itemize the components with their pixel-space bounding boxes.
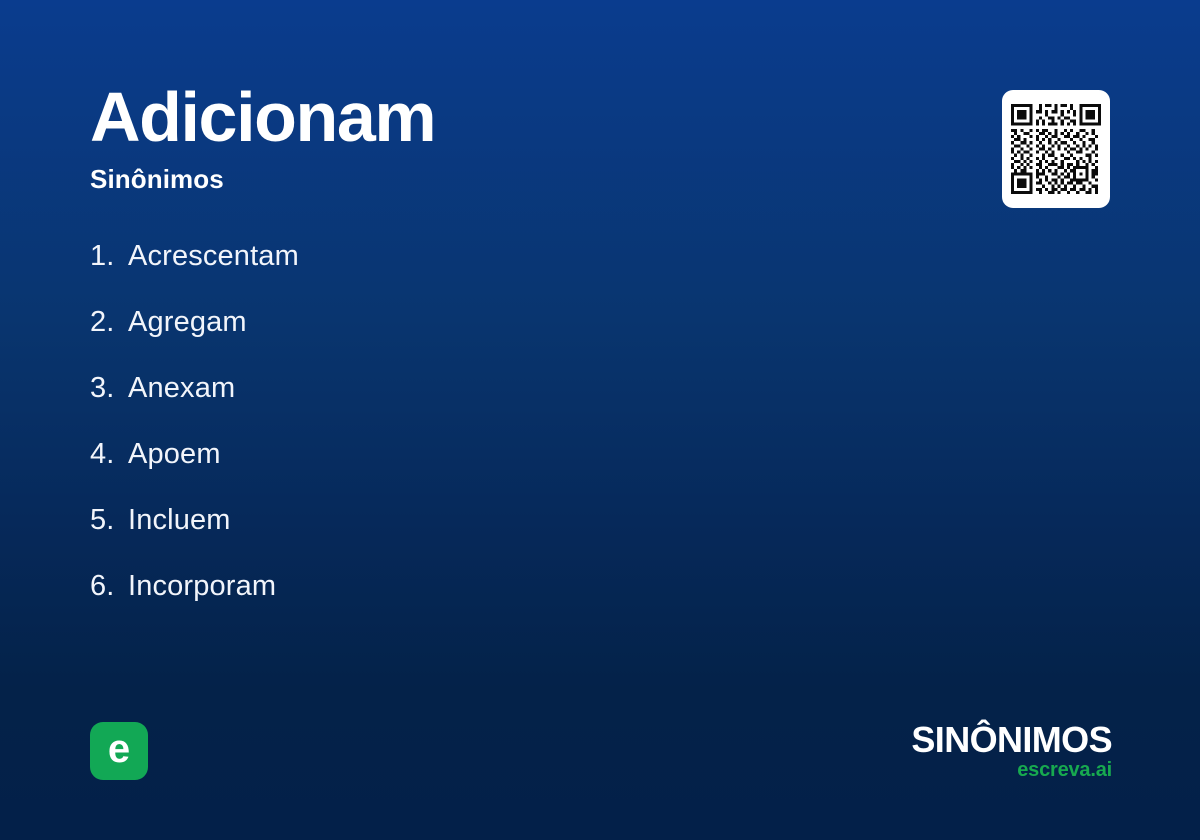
brand-lockup: SINÔNIMOS escreva.ai [812, 722, 1112, 780]
list-item: 3.Anexam [90, 366, 850, 432]
list-item-index: 3. [90, 366, 128, 410]
list-item-index: 5. [90, 498, 128, 542]
page-title: Adicionam [90, 82, 810, 152]
qr-code-panel[interactable] [1002, 90, 1110, 208]
list-item: 5.Incluem [90, 498, 850, 564]
list-item: 6.Incorporam [90, 564, 850, 630]
list-item-index: 6. [90, 564, 128, 608]
list-item-label: Agregam [128, 306, 247, 338]
brand-name: SINÔNIMOS [812, 722, 1112, 758]
list-item: 1.Acrescentam [90, 234, 850, 300]
list-item-index: 2. [90, 300, 128, 344]
list-item-label: Apoem [128, 438, 221, 470]
list-item: 4.Apoem [90, 432, 850, 498]
list-item-index: 4. [90, 432, 128, 476]
list-item-label: Acrescentam [128, 240, 299, 272]
headline-block: Adicionam Sinônimos [90, 82, 810, 192]
qr-code-icon [1011, 104, 1101, 194]
list-item: 2.Agregam [90, 300, 850, 366]
synonym-list: 1.Acrescentam 2.Agregam 3.Anexam 4.Apoem… [90, 234, 850, 630]
list-item-label: Anexam [128, 372, 235, 404]
badge-letter: e [108, 729, 130, 769]
escreva-badge-icon[interactable]: e [90, 722, 148, 780]
brand-domain: escreva.ai [812, 760, 1112, 780]
list-item-label: Incorporam [128, 570, 276, 602]
synonym-card: Adicionam Sinônimos [0, 0, 1200, 840]
list-item-index: 1. [90, 234, 128, 278]
list-item-label: Incluem [128, 504, 231, 536]
page-subtitle: Sinônimos [90, 166, 810, 192]
